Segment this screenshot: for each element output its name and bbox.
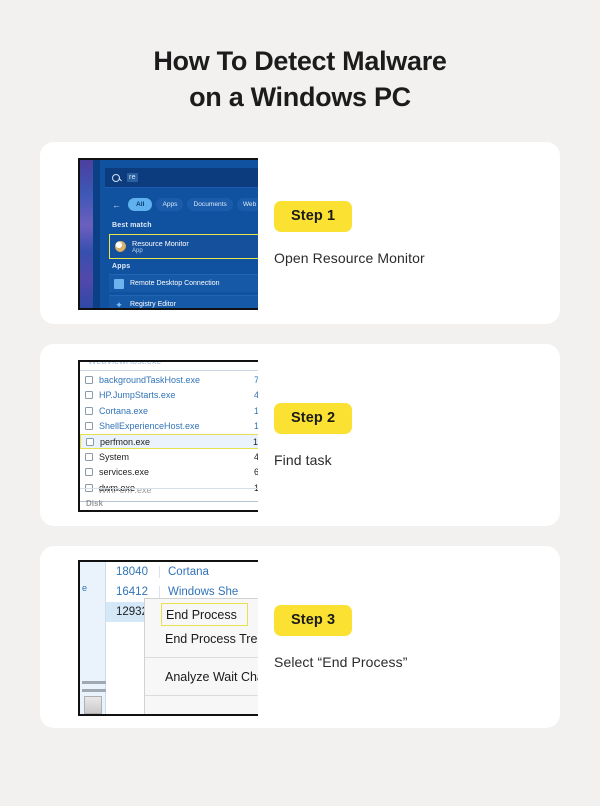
table-row[interactable]: Cortana.exe 1804 xyxy=(80,403,258,418)
left-column-strip: e xyxy=(80,562,106,714)
step-3-text: Step 3 Select “End Process” xyxy=(258,605,560,670)
app-item-label: Remote Desktop Connection xyxy=(130,280,220,287)
process-name: HP.JumpStarts.exe xyxy=(99,390,254,400)
page-title-line-2: on a Windows PC xyxy=(40,80,560,116)
step-3-screenshot-wrap: e 18040 Cortana 16412 Wind xyxy=(40,546,258,728)
row-checkbox[interactable] xyxy=(85,407,93,415)
table-row[interactable]: backgroundTaskHost.exe 7872 xyxy=(80,372,258,387)
process-pane-footer: Disk xyxy=(80,501,258,510)
table-row[interactable]: System 4 xyxy=(80,449,258,464)
tab-apps[interactable]: Apps xyxy=(156,198,183,211)
process-pid: 4240 xyxy=(254,390,258,400)
step-caption-2: Find task xyxy=(274,452,542,468)
best-match-section-label: Best match xyxy=(112,222,152,229)
search-icon xyxy=(112,174,120,182)
row-checkbox[interactable] xyxy=(85,422,93,430)
process-list-screenshot: WebViewHost.exe backgroundTaskHost.exe 7… xyxy=(78,360,258,512)
context-menu-item-end-process[interactable]: End Process xyxy=(161,603,248,626)
taskbar-gap xyxy=(93,160,100,308)
process-pid: 1293 xyxy=(253,437,258,447)
table-row[interactable]: HP.JumpStarts.exe 4240 xyxy=(80,388,258,403)
process-pid: 4 xyxy=(254,452,258,462)
clipped-text-fragment: e xyxy=(82,583,87,593)
step-badge-3: Step 3 xyxy=(274,605,352,636)
context-menu-separator xyxy=(145,695,258,696)
step-card-3: e 18040 Cortana 16412 Wind xyxy=(40,546,560,728)
resource-monitor-icon xyxy=(115,241,126,252)
registry-editor-icon: ✦ xyxy=(114,300,124,310)
best-match-title: Resource Monitor xyxy=(132,239,189,248)
windows-start-menu-screenshot: re ← All Apps Documents Web Setting Best… xyxy=(78,158,258,310)
process-name: Cortana.exe xyxy=(99,406,254,416)
start-search-bar[interactable]: re xyxy=(105,168,258,188)
process-rows: backgroundTaskHost.exe 7872 HP.JumpStart… xyxy=(80,372,258,495)
step-badge-2: Step 2 xyxy=(274,403,352,434)
clipped-bottom-row: WinPerfF.exe 9040 xyxy=(80,488,258,500)
apps-section-label: Apps xyxy=(112,263,130,270)
process-description: Cortana xyxy=(160,566,209,578)
row-checkbox[interactable] xyxy=(85,453,93,461)
process-pid: 1641 xyxy=(254,421,258,431)
page-title-line-1: How To Detect Malware xyxy=(40,44,560,80)
step-card-2: WebViewHost.exe backgroundTaskHost.exe 7… xyxy=(40,344,560,526)
clipped-graph-bars xyxy=(82,670,106,714)
table-row[interactable]: ShellExperienceHost.exe 1641 xyxy=(80,418,258,433)
context-menu: End Process End Process Tree Analyze Wai… xyxy=(144,598,258,714)
process-name: ShellExperienceHost.exe xyxy=(99,421,254,431)
step-card-1: re ← All Apps Documents Web Setting Best… xyxy=(40,142,560,324)
clipped-bottom-process-name: WinPerfF.exe xyxy=(98,488,152,495)
row-checkbox[interactable] xyxy=(85,391,93,399)
process-name: perfmon.exe xyxy=(100,437,253,447)
step-caption-1: Open Resource Monitor xyxy=(274,250,542,266)
best-match-subtitle: App xyxy=(132,248,189,256)
table-row[interactable]: 18040 Cortana xyxy=(106,562,258,582)
start-filter-tabs: ← All Apps Documents Web Setting xyxy=(105,196,258,213)
step-2-text: Step 2 Find task xyxy=(258,403,560,468)
search-input-value[interactable]: re xyxy=(127,173,138,182)
process-pid: 1804 xyxy=(254,406,258,416)
row-checkbox[interactable] xyxy=(85,376,93,384)
process-pid: 18040 xyxy=(106,566,160,578)
step-badge-1: Step 1 xyxy=(274,201,352,232)
best-match-result-resource-monitor[interactable]: Resource Monitor App › xyxy=(109,234,258,259)
row-checkbox[interactable] xyxy=(86,438,94,446)
app-item-label: Registry Editor xyxy=(130,301,176,308)
clipped-top-row-label: WebViewHost.exe xyxy=(88,362,161,366)
tab-documents[interactable]: Documents xyxy=(187,198,232,211)
tab-web[interactable]: Web xyxy=(237,198,258,211)
context-menu-screenshot: e 18040 Cortana 16412 Wind xyxy=(78,560,258,716)
app-item-remote-desktop-connection[interactable]: Remote Desktop Connection › xyxy=(109,274,258,292)
context-menu-item-analyze-wait-chain[interactable]: Analyze Wait Chain... xyxy=(145,664,258,689)
process-pid: 632 xyxy=(254,467,258,477)
context-menu-item-end-process-tree[interactable]: End Process Tree xyxy=(145,626,258,651)
step-2-screenshot-wrap: WebViewHost.exe backgroundTaskHost.exe 7… xyxy=(40,344,258,526)
footer-section-label: Disk xyxy=(86,499,103,508)
process-name: services.exe xyxy=(99,467,254,477)
taskbar-strip xyxy=(80,160,93,308)
process-pid: 7872 xyxy=(254,375,258,385)
table-row[interactable]: services.exe 632 xyxy=(80,465,258,480)
app-item-registry-editor[interactable]: ✦ Registry Editor › xyxy=(109,295,258,310)
step-1-screenshot-wrap: re ← All Apps Documents Web Setting Best… xyxy=(40,142,258,324)
process-name: backgroundTaskHost.exe xyxy=(99,375,254,385)
page-title: How To Detect Malware on a Windows PC xyxy=(0,0,600,115)
process-name: System xyxy=(99,452,254,462)
clipped-panel-box xyxy=(84,696,102,714)
row-checkbox[interactable] xyxy=(85,468,93,476)
steps-list: re ← All Apps Documents Web Setting Best… xyxy=(0,115,600,728)
step-1-text: Step 1 Open Resource Monitor xyxy=(258,201,560,266)
context-menu-separator xyxy=(145,657,258,658)
process-pid: 16412 xyxy=(106,586,160,598)
table-row-highlighted-perfmon[interactable]: perfmon.exe 1293 xyxy=(80,434,258,449)
tab-all[interactable]: All xyxy=(128,198,152,211)
step-caption-3: Select “End Process” xyxy=(274,654,542,670)
clipped-top-row: WebViewHost.exe xyxy=(80,362,258,371)
process-description: Windows She xyxy=(160,586,238,598)
remote-desktop-icon xyxy=(114,279,124,289)
back-arrow-icon[interactable]: ← xyxy=(109,200,124,210)
